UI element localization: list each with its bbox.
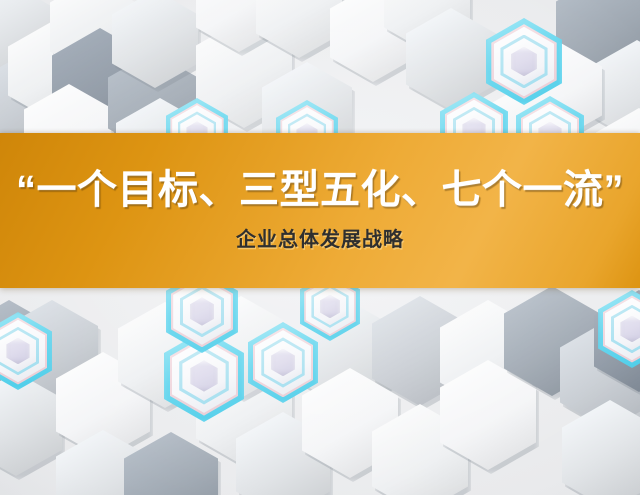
glowing-hexagon: [598, 290, 640, 368]
title-banner: “一个目标、三型五化、七个一流” 企业总体发展战略: [0, 133, 640, 288]
background-hexagon: [562, 400, 640, 495]
slide-subtitle: 企业总体发展战略: [236, 223, 404, 252]
glowing-hexagon: [0, 312, 52, 390]
slide-title: “一个目标、三型五化、七个一流”: [16, 169, 624, 211]
presentation-slide: “一个目标、三型五化、七个一流” 企业总体发展战略: [0, 0, 640, 495]
